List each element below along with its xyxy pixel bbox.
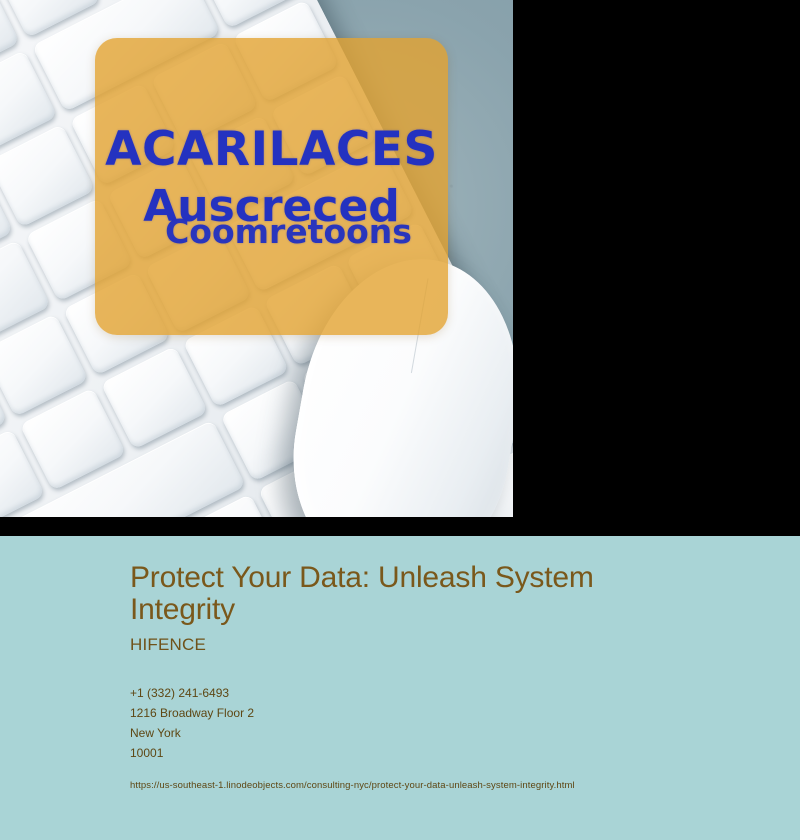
page-root: ACARILACES Auscreced Coomretoons Protect… xyxy=(0,0,800,840)
info-content: Protect Your Data: Unleash System Integr… xyxy=(0,536,800,791)
brand-name: HIFENCE xyxy=(130,635,760,655)
contact-street: 1216 Broadway Floor 2 xyxy=(130,703,760,723)
contact-phone: +1 (332) 241-6493 xyxy=(130,683,760,703)
contact-city: New York xyxy=(130,723,760,743)
contact-zip: 10001 xyxy=(130,743,760,763)
logo-overlay-card: ACARILACES Auscreced Coomretoons xyxy=(95,38,448,335)
page-title: Protect Your Data: Unleash System Integr… xyxy=(130,562,660,625)
logo-text-block: ACARILACES Auscreced Coomretoons xyxy=(95,126,448,248)
logo-line-primary: ACARILACES xyxy=(95,126,448,173)
logo-line-tertiary: Coomretoons xyxy=(129,215,448,248)
info-panel: Protect Your Data: Unleash System Integr… xyxy=(0,536,800,840)
contact-details-list: +1 (332) 241-6493 1216 Broadway Floor 2 … xyxy=(130,683,760,764)
source-url[interactable]: https://us-southeast-1.linodeobjects.com… xyxy=(130,780,760,791)
hero-photo: ACARILACES Auscreced Coomretoons xyxy=(0,0,513,517)
